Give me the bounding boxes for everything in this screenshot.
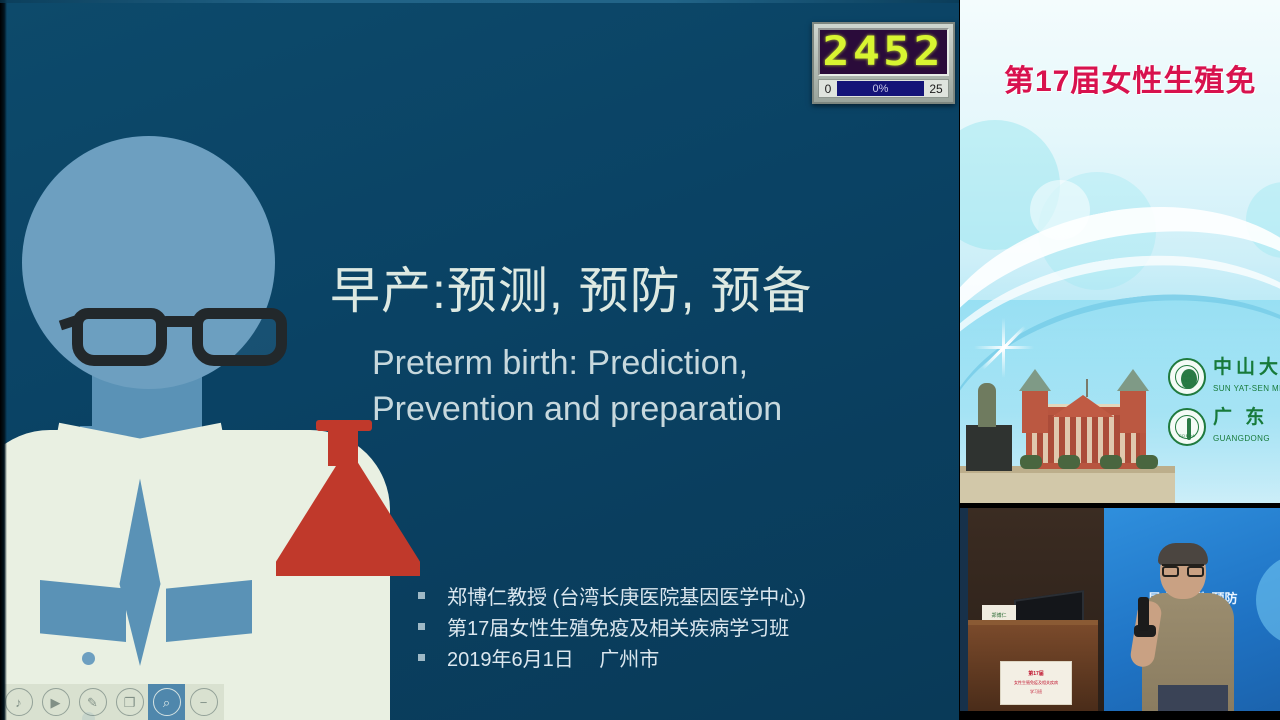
podium-sign-line3: 学习班 — [1001, 689, 1071, 695]
speaker-trousers — [1158, 685, 1228, 711]
slide-title-chinese: 早产:预测, 预防, 预备 — [330, 262, 950, 320]
eyeglasses-icon — [72, 308, 287, 368]
flask-rim — [316, 420, 372, 431]
banner-title: 第17届女性生殖免 — [1004, 56, 1256, 100]
slide-title-english: Preterm birth: Prediction, Prevention an… — [372, 340, 932, 432]
scientist-illustration — [0, 100, 360, 720]
lens-right — [192, 308, 287, 366]
shrub — [1100, 455, 1122, 469]
player-toolbar[interactable]: ♪ ▶ ✎ ❐ ⌕ − — [0, 684, 224, 720]
toolbar-button-pencil[interactable]: ✎ — [74, 684, 111, 720]
university-seal-icon: SUN YAT-SEN — [1168, 358, 1206, 396]
flag-pole — [1086, 379, 1088, 397]
countdown-timer-widget[interactable]: 2452 0 0% 25 — [812, 22, 955, 104]
projected-circle — [1256, 554, 1280, 646]
list-item: 第17届女性生殖免疫及相关疾病学习班 — [418, 611, 938, 642]
coat-button — [82, 652, 95, 665]
timer-range-min: 0 — [819, 82, 837, 96]
toolbar-button-zoom-out[interactable]: − — [185, 684, 222, 720]
timer-display-bezel: 2452 — [818, 28, 949, 76]
logo-guangdong: GDBDA 广 东 GUANGDONG — [1168, 408, 1280, 446]
microphone-icon — [1138, 597, 1149, 631]
logo-text: 中山大 SUN YAT-SEN ME — [1213, 358, 1280, 396]
seal-ring-text: SUN YAT-SEN — [1178, 373, 1196, 388]
podium-sign-line1: 第17届 — [1001, 670, 1071, 677]
logo-name-cn: 广 东 — [1213, 407, 1268, 428]
bullet-square-icon — [418, 623, 425, 630]
presentation-slide: 早产:预测, 预防, 预备 Preterm birth: Prediction,… — [0, 0, 959, 720]
speaker-glasses-icon — [1162, 564, 1204, 577]
conference-banner-panel: 第17届女性生殖免 SUN YAT-SEN 中山大 SUN Y — [960, 0, 1280, 503]
magnifier-icon[interactable]: ⌕ — [153, 688, 181, 716]
flask-body — [276, 456, 420, 576]
logo-name-cn: 中山大 — [1213, 357, 1280, 378]
building-tower — [1022, 389, 1048, 433]
shrub — [1136, 455, 1158, 469]
timer-progress-row[interactable]: 0 0% 25 — [818, 79, 949, 98]
logo-name-en: SUN YAT-SEN ME — [1213, 384, 1280, 393]
bullet-text: 2019年6月1日 广州市 — [447, 643, 659, 672]
timer-range-max: 25 — [924, 82, 948, 96]
timer-digits: 2452 — [823, 32, 944, 72]
campus-photo — [960, 368, 1175, 503]
video-left-strip — [960, 508, 968, 711]
seal-ring-text: GDBDA — [1178, 433, 1196, 438]
slide-title-english-line2: Prevention and preparation — [372, 386, 932, 432]
toolbar-button-copy[interactable]: ❐ — [111, 684, 148, 720]
statue-pedestal — [966, 425, 1012, 471]
video-letterbox-bottom — [960, 711, 1280, 720]
statue-figure — [978, 383, 996, 427]
building-tower — [1120, 389, 1146, 433]
coat-pocket-left — [40, 580, 126, 642]
podium-sign-line2: 女性生殖免疫及相关疾病 — [1001, 680, 1071, 686]
play-icon[interactable]: ▶ — [42, 688, 70, 716]
toolbar-button-volume[interactable]: ♪ — [0, 684, 37, 720]
logo-name-en: GUANGDONG — [1213, 434, 1270, 443]
association-seal-icon: GDBDA — [1168, 408, 1206, 446]
slide-bullet-list: 郑博仁教授 (台湾长庚医院基因医学中心) 第17届女性生殖免疫及相关疾病学习班 … — [418, 580, 938, 673]
speaker-figure — [1132, 529, 1236, 711]
speaker-hair — [1158, 543, 1208, 565]
speaker-video-panel[interactable]: 早产:预测, 预防 term birth: Predicti vention a… — [960, 503, 1280, 720]
toolbar-button-magnifier[interactable]: ⌕ — [148, 684, 185, 720]
timer-progress-bar[interactable]: 0% — [837, 81, 924, 96]
minus-icon[interactable]: − — [190, 688, 218, 716]
flask-icon — [276, 420, 420, 576]
logo-sun-yat-sen: SUN YAT-SEN 中山大 SUN YAT-SEN ME — [1168, 358, 1280, 396]
coat-pocket-right — [166, 580, 252, 642]
slide-title-english-line1: Preterm birth: Prediction, — [372, 340, 932, 386]
list-item: 郑博仁教授 (台湾长庚医院基因医学中心) — [418, 580, 938, 611]
podium: 第17届 女性生殖免疫及相关疾病 学习班 — [968, 620, 1098, 711]
bullet-text: 郑博仁教授 (台湾长庚医院基因医学中心) — [447, 581, 806, 610]
screen-recording-window: 早产:预测, 预防, 预备 Preterm birth: Prediction,… — [0, 0, 1280, 720]
copy-icon[interactable]: ❐ — [116, 688, 144, 716]
glasses-bridge — [162, 316, 200, 327]
bullet-square-icon — [418, 592, 425, 599]
logo-text: 广 东 GUANGDONG — [1213, 408, 1280, 446]
lens-left — [72, 308, 167, 366]
shrub — [1058, 455, 1080, 469]
volume-icon[interactable]: ♪ — [5, 688, 33, 716]
shrub — [1020, 455, 1042, 469]
bullet-text: 第17届女性生殖免疫及相关疾病学习班 — [447, 612, 789, 641]
pencil-icon[interactable]: ✎ — [79, 688, 107, 716]
podium-sign: 第17届 女性生殖免疫及相关疾病 学习班 — [1000, 661, 1072, 705]
toolbar-button-play[interactable]: ▶ — [37, 684, 74, 720]
bullet-square-icon — [418, 654, 425, 661]
list-item: 2019年6月1日 广州市 — [418, 642, 938, 673]
video-frame: 早产:预测, 预防 term birth: Predicti vention a… — [960, 508, 1280, 711]
